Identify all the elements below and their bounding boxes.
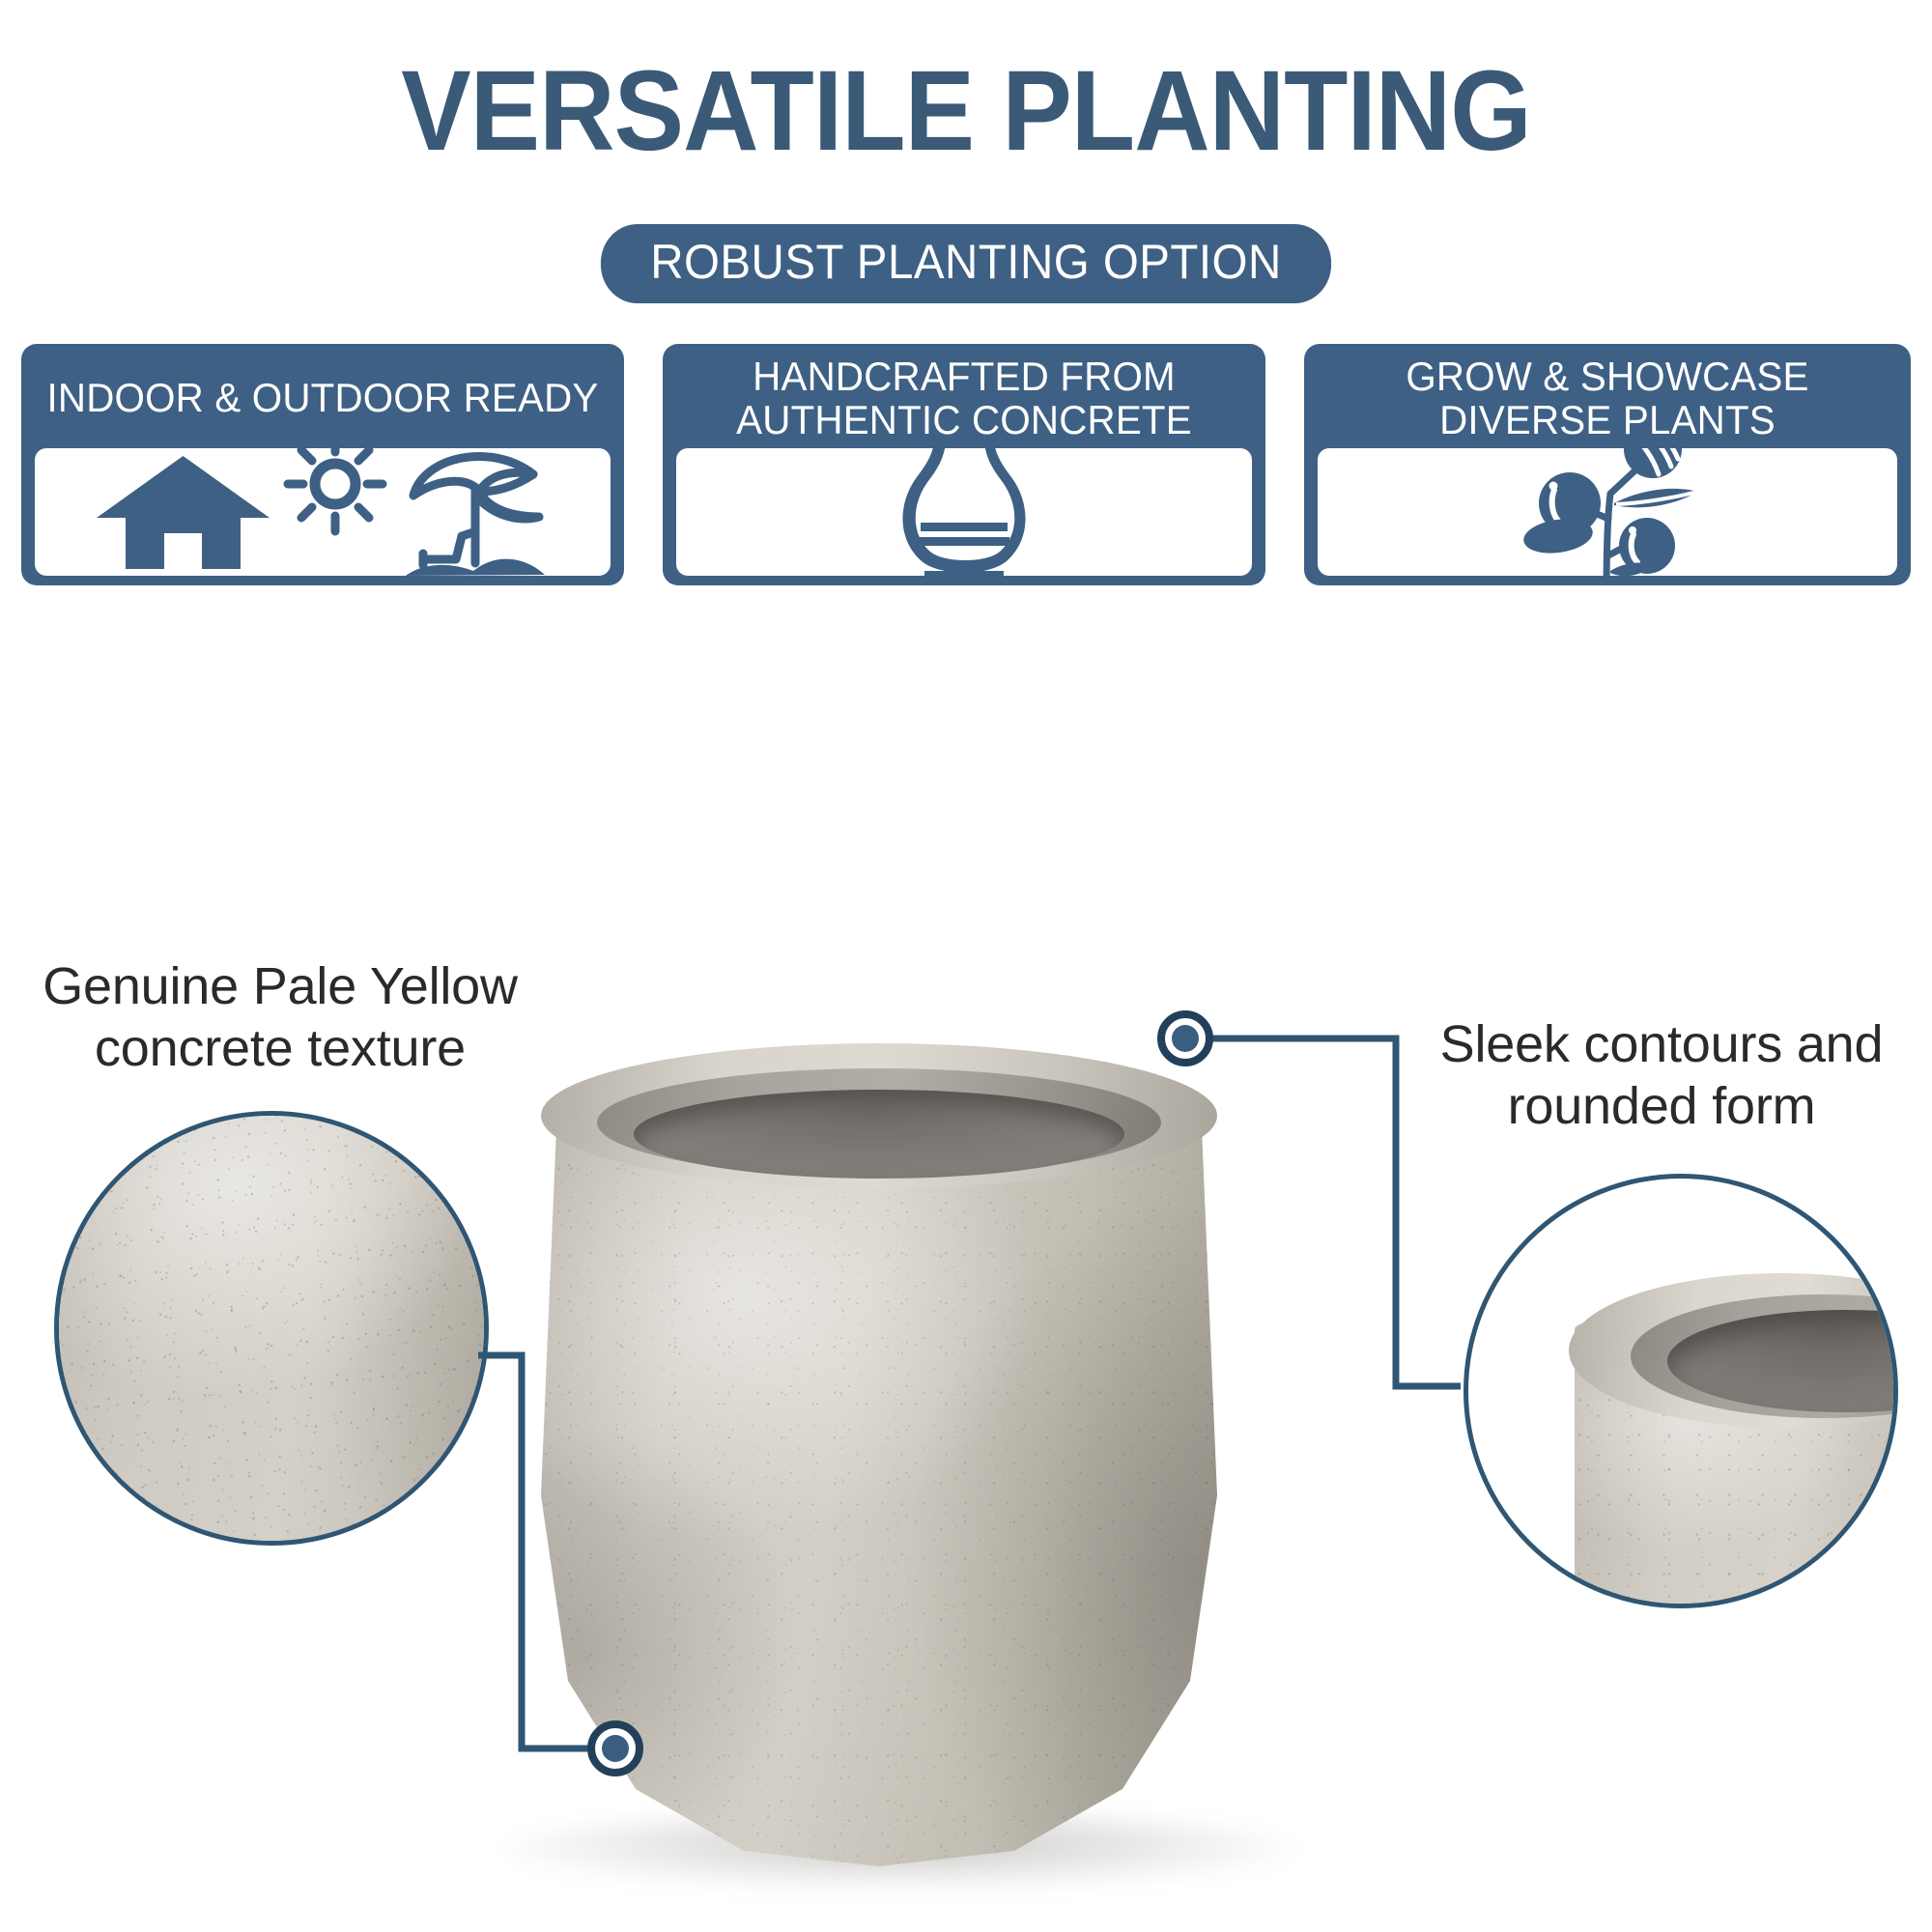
- detail-closeup-contours: [1463, 1174, 1898, 1608]
- status-badge: ROBUST PLANTING OPTION: [601, 224, 1331, 303]
- sun-icon: [282, 448, 388, 576]
- page-title: VERSATILE PLANTING: [77, 52, 1855, 172]
- feature-card-title: HANDCRAFTED FROM AUTHENTIC CONCRETE: [678, 348, 1249, 444]
- planter-body: [541, 1094, 1217, 1866]
- concrete-grain-texture: [541, 1094, 1217, 1866]
- callout-label-contours: Sleek contours and rounded form: [1391, 1014, 1932, 1137]
- feature-card-grow-showcase: GROW & SHOWCASE DIVERSE PLANTS: [1304, 344, 1911, 585]
- beach-umbrella-lounger-icon: [398, 448, 553, 576]
- callout-label-texture: Genuine Pale Yellow concrete texture: [19, 956, 541, 1079]
- feature-card-title: GROW & SHOWCASE DIVERSE PLANTS: [1320, 348, 1894, 444]
- feature-card-title: INDOOR & OUTDOOR READY: [37, 348, 608, 444]
- planter-interior-cavity: [634, 1090, 1124, 1179]
- product-planter-image: [541, 1043, 1217, 1893]
- feature-card-icon-panel: [1318, 448, 1897, 576]
- rim-and-interior-closeup: [1468, 1179, 1893, 1604]
- feature-card-icon-panel: [35, 448, 611, 576]
- concrete-surface-closeup: [54, 1111, 489, 1546]
- detail-closeup-texture: [54, 1111, 489, 1546]
- vase-icon: [892, 448, 1037, 576]
- house-icon: [94, 452, 272, 573]
- feature-card-indoor-outdoor: INDOOR & OUTDOOR READY: [21, 344, 624, 585]
- concrete-grain-texture: [54, 1111, 489, 1546]
- berry-sprig-plant-icon: [1506, 448, 1709, 576]
- subtitle-badge-container: ROBUST PLANTING OPTION: [0, 224, 1932, 303]
- feature-card-icon-panel: [676, 448, 1252, 576]
- feature-card-handcrafted-concrete: HANDCRAFTED FROM AUTHENTIC CONCRETE: [663, 344, 1265, 585]
